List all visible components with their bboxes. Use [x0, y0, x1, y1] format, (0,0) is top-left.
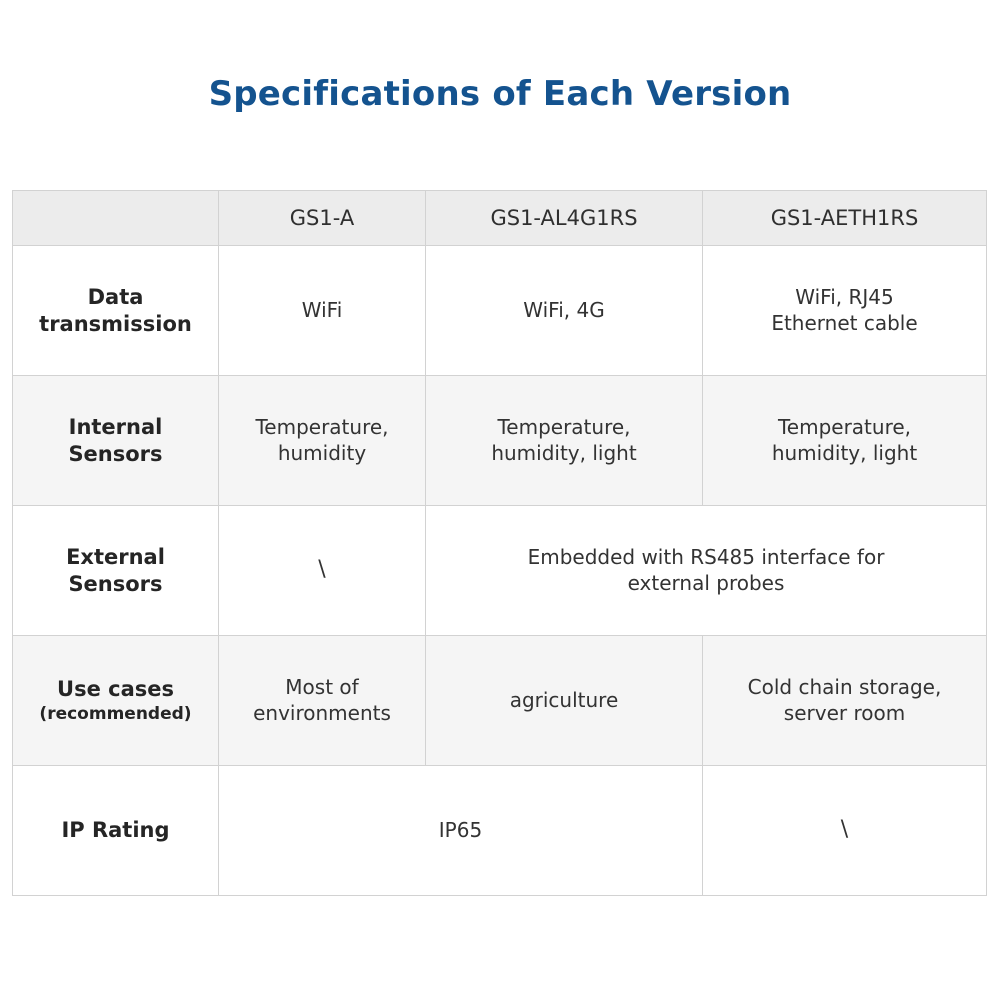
- cell-line2: Ethernet cable: [713, 311, 976, 337]
- cell-line1: Temperature,: [713, 415, 976, 441]
- cell-internal-sensors-gs1a: Temperature, humidity: [219, 376, 426, 506]
- cell-ip-rating-gs1aeth1rs: \: [703, 766, 987, 896]
- cell-line2: server room: [713, 701, 976, 727]
- cell-data-transmission-gs1al4g1rs: WiFi, 4G: [426, 246, 703, 376]
- cell-external-sensors-gs1a: \: [219, 506, 426, 636]
- cell-line1: agriculture: [436, 688, 692, 714]
- cell-line1: Temperature,: [436, 415, 692, 441]
- table-header-corner: [13, 191, 219, 246]
- table-body: Data transmission WiFi WiFi, 4G WiFi, RJ…: [13, 246, 987, 896]
- column-header-gs1a: GS1-A: [219, 191, 426, 246]
- cell-line1: WiFi: [229, 298, 415, 324]
- row-label-line2: Sensors: [23, 571, 208, 597]
- row-label-line2: transmission: [23, 311, 208, 337]
- cell-ip-rating-merged: IP65: [219, 766, 703, 896]
- table-header-row: GS1-A GS1-AL4G1RS GS1-AETH1RS: [13, 191, 987, 246]
- cell-line1: IP65: [229, 818, 692, 844]
- cell-external-sensors-merged: Embedded with RS485 interface for extern…: [426, 506, 987, 636]
- row-label-line1: External: [23, 544, 208, 570]
- table-row-external-sensors: External Sensors \ Embedded with RS485 i…: [13, 506, 987, 636]
- page-title: Specifications of Each Version: [0, 74, 1000, 114]
- cell-line2: humidity, light: [713, 441, 976, 467]
- row-label-line1: Data: [23, 284, 208, 310]
- row-label-line2: Sensors: [23, 441, 208, 467]
- row-label-line1: Internal: [23, 414, 208, 440]
- row-label-internal-sensors: Internal Sensors: [13, 376, 219, 506]
- cell-line1: \: [713, 816, 976, 844]
- cell-line1: Cold chain storage,: [713, 675, 976, 701]
- cell-line2: humidity: [229, 441, 415, 467]
- table-row-ip-rating: IP Rating IP65 \: [13, 766, 987, 896]
- row-label-line1: IP Rating: [23, 817, 208, 843]
- cell-internal-sensors-gs1al4g1rs: Temperature, humidity, light: [426, 376, 703, 506]
- cell-line1: Embedded with RS485 interface for: [436, 545, 976, 571]
- specifications-page: Specifications of Each Version GS1-A GS1…: [0, 0, 1000, 1000]
- row-label-use-cases: Use cases (recommended): [13, 636, 219, 766]
- cell-data-transmission-gs1aeth1rs: WiFi, RJ45 Ethernet cable: [703, 246, 987, 376]
- cell-use-cases-gs1al4g1rs: agriculture: [426, 636, 703, 766]
- table-row-internal-sensors: Internal Sensors Temperature, humidity T…: [13, 376, 987, 506]
- cell-line1: WiFi, 4G: [436, 298, 692, 324]
- row-label-ip-rating: IP Rating: [13, 766, 219, 896]
- column-header-gs1al4g1rs: GS1-AL4G1RS: [426, 191, 703, 246]
- specifications-table: GS1-A GS1-AL4G1RS GS1-AETH1RS Data trans…: [12, 190, 987, 896]
- row-label-data-transmission: Data transmission: [13, 246, 219, 376]
- table-header: GS1-A GS1-AL4G1RS GS1-AETH1RS: [13, 191, 987, 246]
- cell-line1: Most of: [229, 675, 415, 701]
- column-header-gs1aeth1rs: GS1-AETH1RS: [703, 191, 987, 246]
- row-label-external-sensors: External Sensors: [13, 506, 219, 636]
- row-label-sublabel: (recommended): [23, 703, 208, 725]
- cell-line1: \: [229, 556, 415, 584]
- table-row-use-cases: Use cases (recommended) Most of environm…: [13, 636, 987, 766]
- cell-line2: environments: [229, 701, 415, 727]
- cell-line2: external probes: [436, 571, 976, 597]
- cell-line2: humidity, light: [436, 441, 692, 467]
- cell-use-cases-gs1aeth1rs: Cold chain storage, server room: [703, 636, 987, 766]
- table-row-data-transmission: Data transmission WiFi WiFi, 4G WiFi, RJ…: [13, 246, 987, 376]
- cell-line1: WiFi, RJ45: [713, 285, 976, 311]
- cell-internal-sensors-gs1aeth1rs: Temperature, humidity, light: [703, 376, 987, 506]
- cell-use-cases-gs1a: Most of environments: [219, 636, 426, 766]
- row-label-line1: Use cases: [23, 676, 208, 702]
- cell-data-transmission-gs1a: WiFi: [219, 246, 426, 376]
- cell-line1: Temperature,: [229, 415, 415, 441]
